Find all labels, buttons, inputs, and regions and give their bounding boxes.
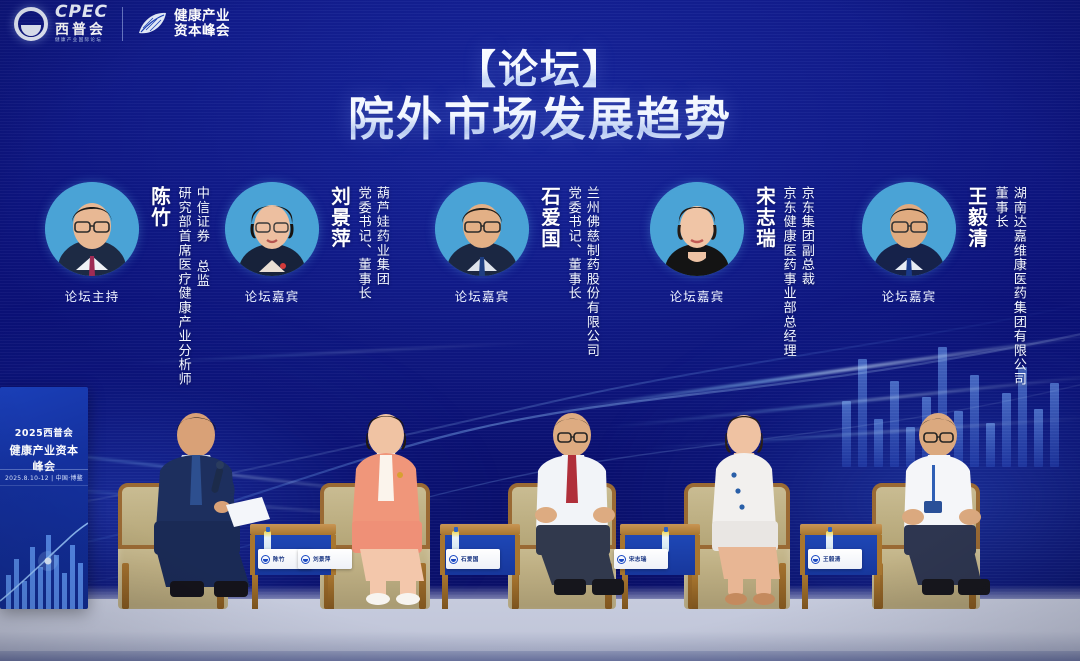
nameplate-name: 刘景萍 [313, 555, 331, 563]
speaker-affiliation-line1: 葫芦娃药业集团 [374, 186, 389, 300]
speaker-role: 论坛嘉宾 [882, 286, 937, 305]
cpec-logo-icon [449, 555, 458, 564]
speaker-name: 石爱国 [538, 186, 558, 249]
speaker-affiliation-line1: 中信证券 总监 [194, 186, 209, 386]
speaker-name: 宋志瑞 [753, 186, 773, 249]
nameplate-name: 陈竹 [273, 555, 285, 563]
avatar [862, 182, 956, 276]
leaf-icon [137, 11, 167, 37]
avatar [225, 182, 319, 276]
avatar [435, 182, 529, 276]
logo-subtitle-text: 健康产业国际论坛 [55, 39, 108, 44]
cpec-circle-logo-icon [14, 7, 48, 41]
event-logo-bar: CPEC 西普会 健康产业国际论坛 健康产业 资本峰会 [14, 4, 230, 44]
speaker-role: 论坛嘉宾 [245, 286, 300, 305]
speaker-card-liu-jingping: 论坛嘉宾 刘景萍 葫芦娃药业集团 党委书记、董事长 [220, 182, 430, 442]
speaker-name: 陈竹 [148, 186, 168, 228]
speaker-role: 论坛主持 [65, 286, 120, 305]
nameplate-name: 石爱国 [461, 555, 479, 563]
speaker-strip: 论坛主持 陈竹 中信证券 总监 研究部首席医疗健康产业分析师 [0, 182, 1080, 442]
podium-chart-graphic [0, 489, 88, 609]
speaker-card-chen-zhu: 论坛主持 陈竹 中信证券 总监 研究部首席医疗健康产业分析师 [0, 182, 220, 442]
forum-title-line2: 院外市场发展趋势 [0, 93, 1080, 146]
table-legs [800, 575, 882, 609]
speaker-affiliation-line1: 兰州佛慈制药股份有限公司 [584, 186, 599, 358]
logo-chinese-text: 西普会 [55, 23, 108, 37]
podium-date-location: 2025.8.10-12 | 中国·博鳌 [0, 469, 88, 486]
logo-cpec: CPEC 西普会 健康产业国际论坛 [14, 4, 108, 44]
speaker-card-shi-aiguo: 论坛嘉宾 石爱国 兰州佛慈制药股份有限公司 党委书记、董事长 [430, 182, 645, 442]
table-legs [440, 575, 520, 609]
cpec-logo-icon [617, 555, 626, 564]
logo-divider [122, 7, 123, 41]
nameplate: 王毅清 [808, 549, 862, 569]
nameplate: 宋志瑞 [614, 549, 668, 569]
speaker-card-song-zhirui: 论坛嘉宾 宋志瑞 京东集团副总裁 京东健康医药事业部总经理 [645, 182, 857, 442]
cpec-logo-icon [261, 555, 270, 564]
cpec-logo-icon [301, 555, 310, 564]
nameplate-name: 王毅清 [823, 555, 841, 563]
speaker-affiliation-line2: 党委书记、董事长 [355, 186, 370, 300]
table-top [800, 524, 882, 535]
speaker-affiliation-line1: 湖南达嘉维康医药集团有限公司 [1011, 186, 1026, 386]
forum-title-line1: 【论坛】 [0, 48, 1080, 93]
avatar [650, 182, 744, 276]
nameplate: 刘景萍 [298, 549, 352, 569]
health-logo-line2: 资本峰会 [174, 24, 230, 39]
speaker-affiliation-line2: 董事长 [992, 186, 1007, 386]
health-logo-line1: 健康产业 [174, 9, 230, 24]
speaker-name: 刘景萍 [328, 186, 348, 249]
nameplate-name: 宋志瑞 [629, 555, 647, 563]
logo-english-text: CPEC [55, 4, 108, 21]
avatar [45, 182, 139, 276]
cpec-logo-icon [811, 555, 820, 564]
speaker-affiliation-line2: 京东健康医药事业部总经理 [780, 186, 795, 358]
speaker-affiliation-line1: 京东集团副总裁 [799, 186, 814, 358]
speaker-affiliation-line2: 党委书记、董事长 [565, 186, 580, 358]
forum-title: 【论坛】 院外市场发展趋势 [0, 48, 1080, 146]
speaker-role: 论坛嘉宾 [455, 286, 510, 305]
nameplate: 石爱国 [446, 549, 500, 569]
speaker-card-wang-yiqing: 论坛嘉宾 王毅清 湖南达嘉维康医药集团有限公司 董事长 [857, 182, 1080, 442]
speaker-affiliation-line2: 研究部首席医疗健康产业分析师 [175, 186, 190, 386]
conference-stage-screenshot: CPEC 西普会 健康产业国际论坛 健康产业 资本峰会 【论坛】 院外市场发展趋… [0, 0, 1080, 661]
speaker-name: 王毅清 [965, 186, 985, 249]
logo-health-capital-summit: 健康产业 资本峰会 [137, 9, 230, 38]
speaker-role: 论坛嘉宾 [670, 286, 725, 305]
